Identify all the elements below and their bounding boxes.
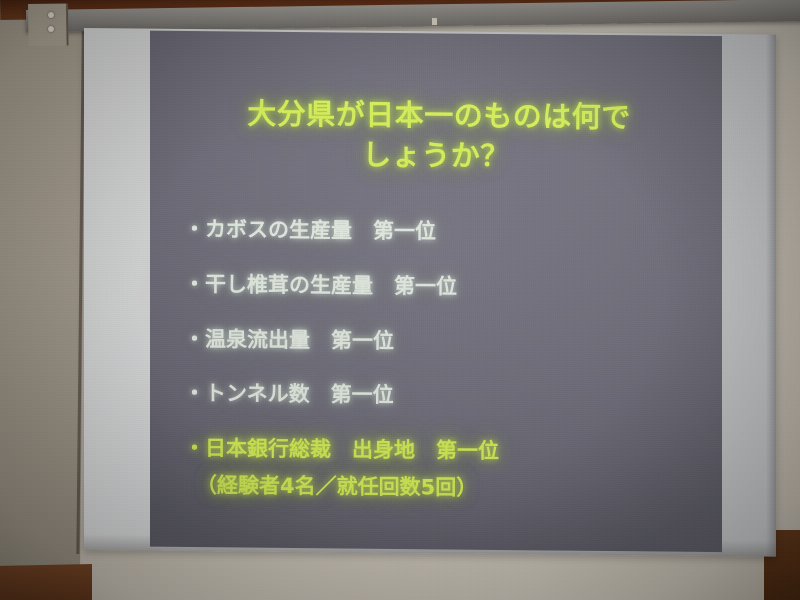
bullet-marker-4: ・ [184, 381, 205, 405]
bullet-item-3: ・温泉流出量 第一位 [184, 326, 722, 356]
roller-bar-marker [432, 18, 437, 25]
slide-bullet-list: ・カボスの生産量 第一位 ・干し椎茸の生産量 第一位 ・温泉流出量 第一位 ・ト… [184, 217, 722, 504]
bracket-screw-bottom [48, 26, 54, 32]
slide-title-line-1: 大分県が日本一のものは何で [150, 93, 722, 139]
bullet-item-5: ・日本銀行総裁 出身地 第一位 [184, 436, 722, 466]
slide-subnote: （経験者4名／就任回数5回） [184, 469, 722, 504]
bullet-text-2: 干し椎茸の生産量 第一位 [205, 272, 457, 298]
bracket-screw-top [48, 12, 54, 18]
bullet-marker-5: ・ [184, 436, 205, 460]
slide-title: 大分県が日本一のものは何で しょうか？ [150, 93, 722, 179]
screen-right-edge [766, 35, 776, 557]
bullet-marker-2: ・ [184, 272, 205, 296]
bullet-item-2: ・干し椎茸の生産量 第一位 [184, 272, 722, 302]
bullet-text-5: 日本銀行総裁 出身地 第一位 [205, 436, 499, 463]
bullet-marker-1: ・ [184, 217, 205, 241]
bullet-text-4: トンネル数 第一位 [205, 381, 394, 407]
photo-scene: 大分県が日本一のものは何で しょうか？ ・カボスの生産量 第一位 ・干し椎茸の生… [0, 0, 800, 600]
bullet-item-1: ・カボスの生産量 第一位 [184, 217, 722, 247]
screen-mount-bracket [28, 3, 69, 46]
bullet-text-1: カボスの生産量 第一位 [205, 217, 436, 243]
bullet-marker-3: ・ [184, 326, 205, 350]
projection-screen: 大分県が日本一のものは何で しょうか？ ・カボスの生産量 第一位 ・干し椎茸の生… [84, 28, 776, 557]
projected-slide: 大分県が日本一のものは何で しょうか？ ・カボスの生産量 第一位 ・干し椎茸の生… [150, 31, 722, 552]
bullet-text-3: 温泉流出量 第一位 [205, 327, 394, 353]
bullet-item-4: ・トンネル数 第一位 [184, 381, 722, 411]
slide-title-line-2: しょうか？ [150, 133, 722, 179]
left-floor-trim [0, 564, 92, 600]
left-wall-panel [0, 0, 86, 600]
